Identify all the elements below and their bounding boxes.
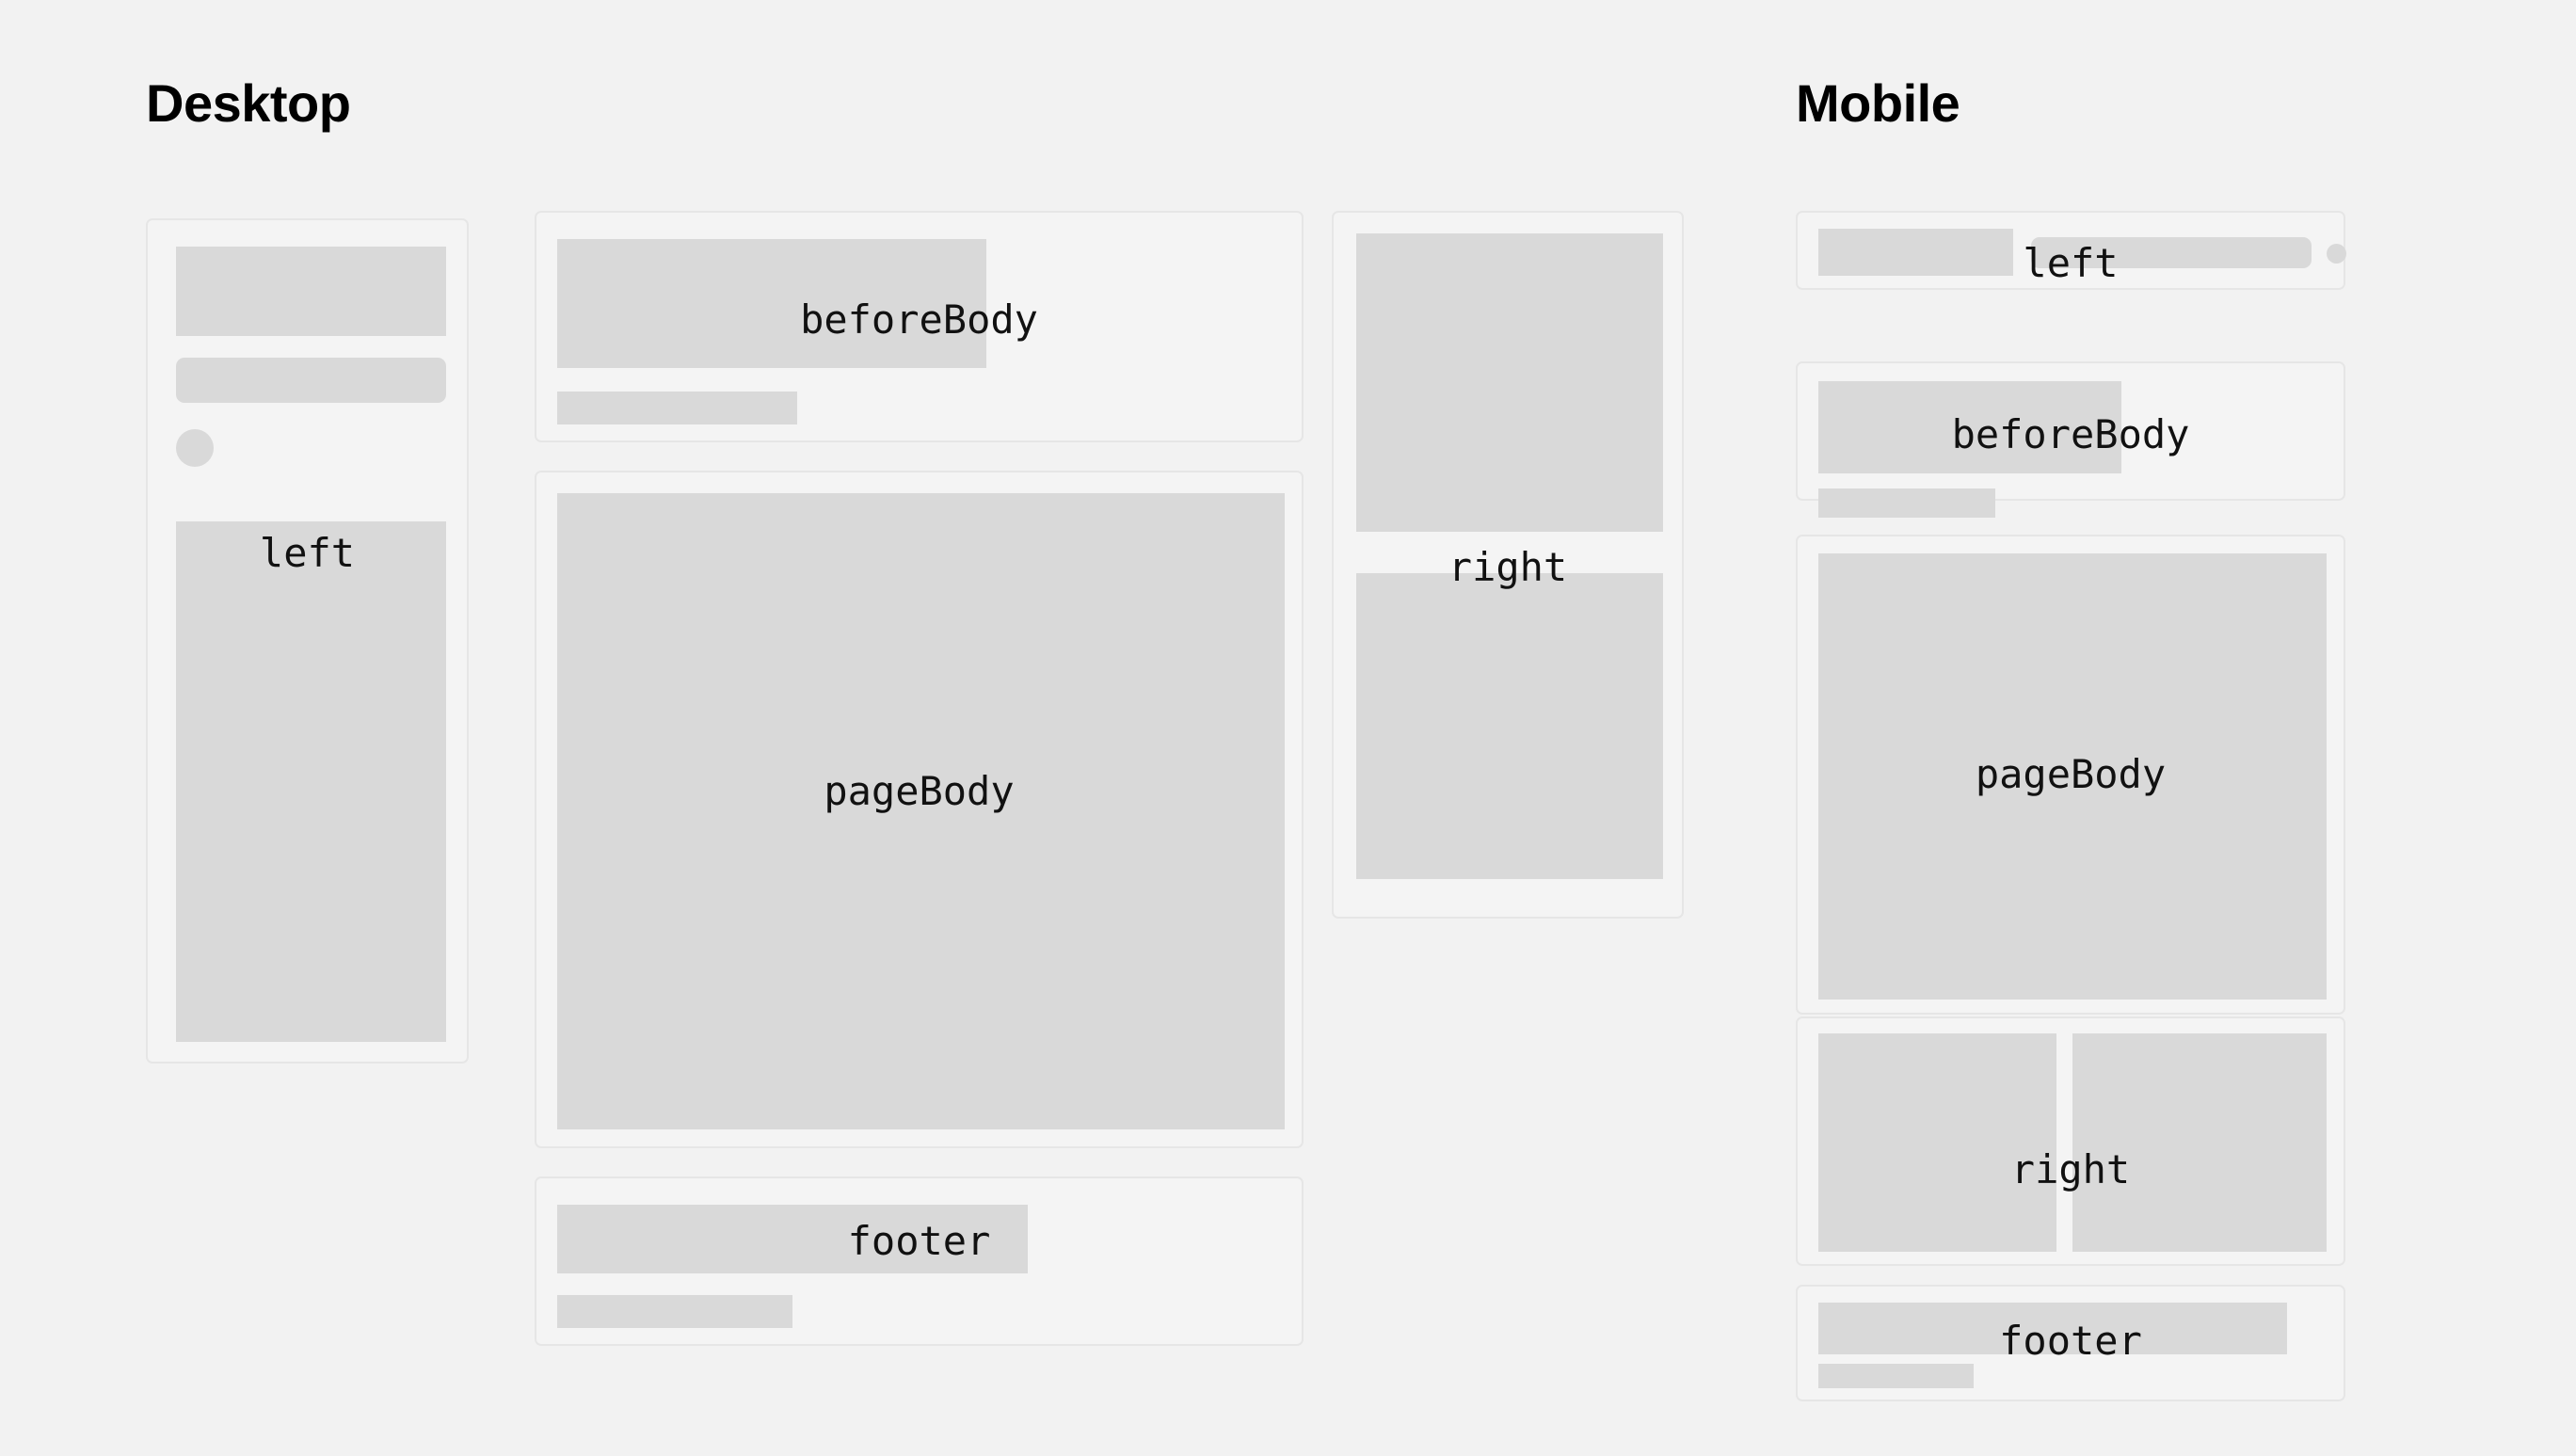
skeleton-block (1356, 233, 1663, 532)
skeleton-block (1818, 229, 2013, 276)
skeleton-block (557, 1295, 792, 1328)
layout-preview-canvas: Desktop Mobile left beforeBody pageBody … (0, 0, 2576, 1456)
skeleton-avatar-circle (176, 429, 214, 467)
skeleton-block (176, 521, 446, 1042)
desktop-right-slot-card[interactable] (1332, 211, 1684, 919)
skeleton-block (1356, 573, 1663, 879)
mobile-pagebody-slot-card[interactable] (1796, 535, 2345, 1015)
skeleton-block (2031, 237, 2312, 268)
mobile-footer-slot-card[interactable] (1796, 1285, 2345, 1401)
mobile-beforebody-slot-card[interactable] (1796, 361, 2345, 501)
mobile-section-title: Mobile (1796, 77, 1960, 130)
desktop-section-title: Desktop (146, 77, 350, 130)
skeleton-block (176, 247, 446, 336)
skeleton-block (1818, 1033, 2056, 1252)
skeleton-block (557, 493, 1285, 1129)
skeleton-avatar-circle (2327, 244, 2346, 264)
skeleton-block (557, 239, 986, 368)
skeleton-block (2072, 1033, 2327, 1252)
skeleton-block (557, 392, 797, 424)
skeleton-block (176, 358, 446, 403)
skeleton-block (1818, 1364, 1974, 1388)
desktop-pagebody-slot-card[interactable] (535, 471, 1304, 1148)
skeleton-block (1818, 553, 2327, 1000)
skeleton-block (1818, 1303, 2287, 1354)
desktop-beforebody-slot-card[interactable] (535, 211, 1304, 442)
mobile-right-slot-card[interactable] (1796, 1016, 2345, 1266)
mobile-left-slot-card[interactable] (1796, 211, 2345, 290)
desktop-footer-slot-card[interactable] (535, 1176, 1304, 1346)
skeleton-block (1818, 488, 1995, 518)
skeleton-block (1818, 381, 2121, 473)
skeleton-block (557, 1205, 1028, 1273)
desktop-left-slot-card[interactable] (146, 218, 469, 1064)
